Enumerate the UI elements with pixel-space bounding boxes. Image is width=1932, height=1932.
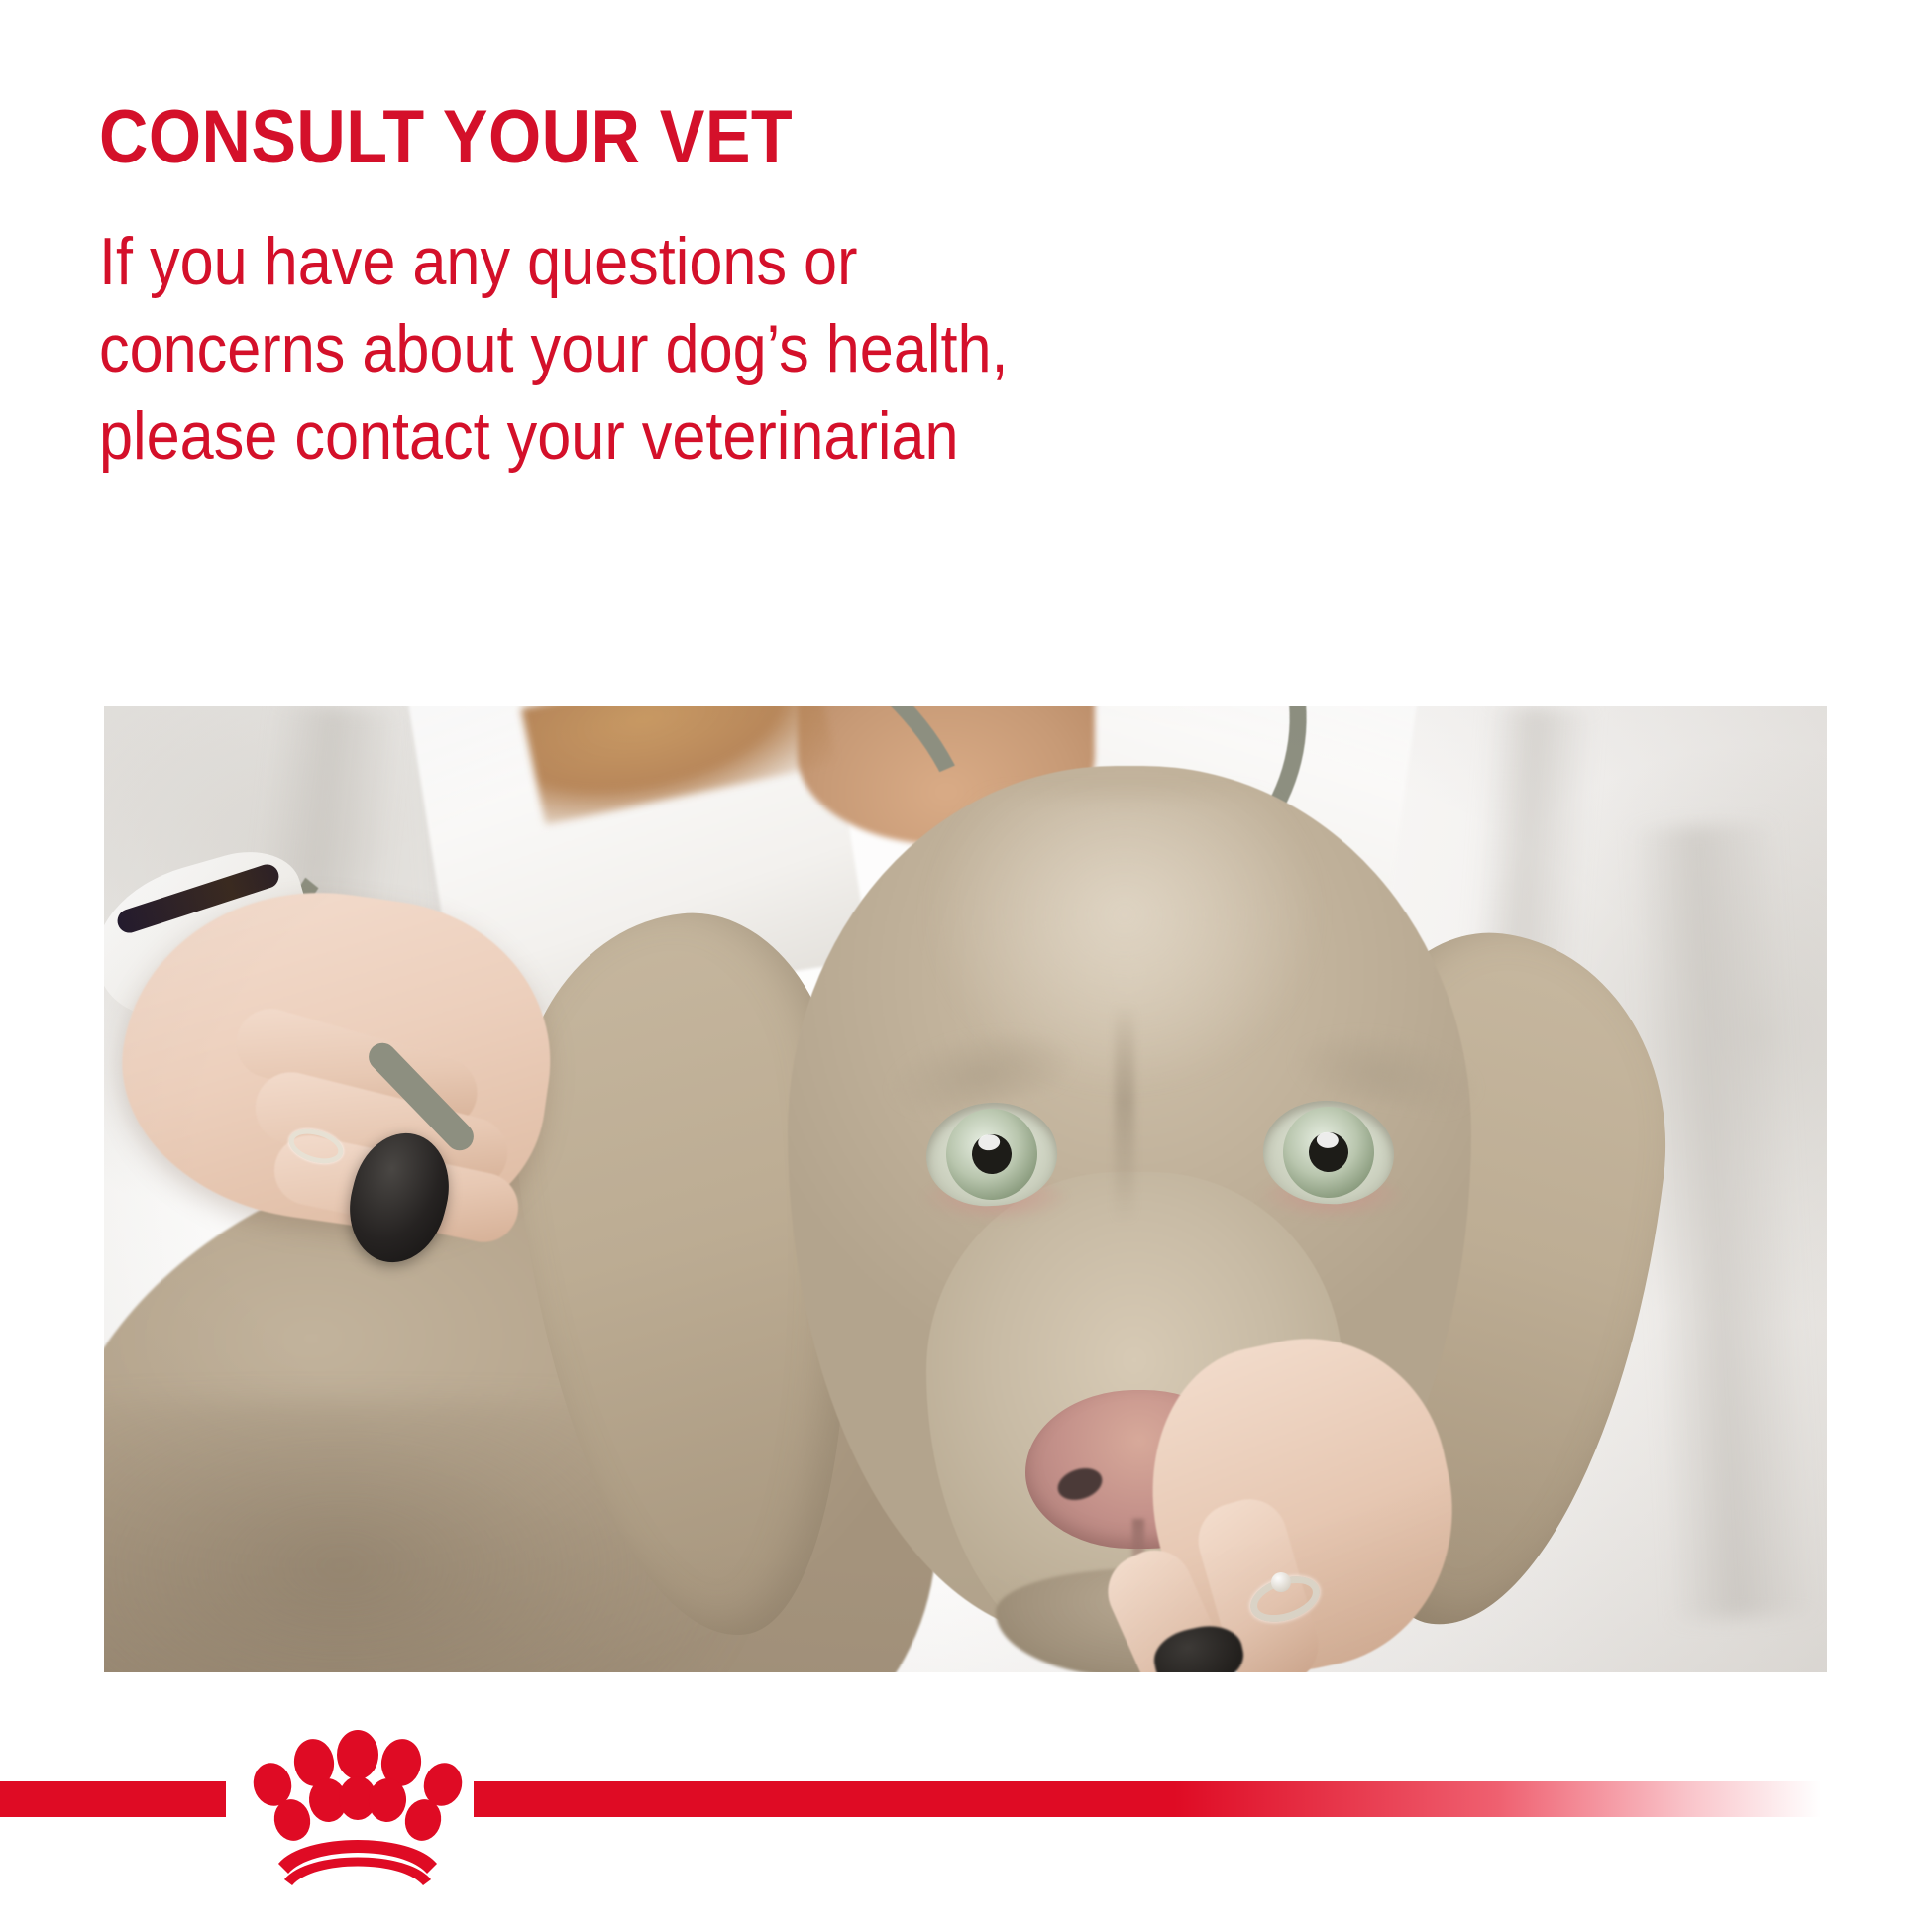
vet-photo (104, 706, 1827, 1672)
subheading-line-1: If you have any questions or (99, 218, 1437, 305)
subheading-line-2: concerns about your dog’s health, (99, 305, 1437, 392)
footer-bar-left (0, 1781, 226, 1817)
page-title: CONSULT YOUR VET (99, 95, 1437, 180)
dog-muzzle-crease (1115, 1004, 1134, 1222)
poster-page: CONSULT YOUR VET If you have any questio… (0, 0, 1932, 1932)
ring-gem (1271, 1572, 1291, 1592)
header-text-block: CONSULT YOUR VET If you have any questio… (99, 95, 1585, 480)
subheading-line-3: please contact your veterinarian (99, 392, 1437, 480)
dog-iris-right (1280, 1104, 1377, 1201)
dog-iris-left (943, 1106, 1040, 1203)
photo-stage (104, 706, 1827, 1672)
royal-canin-crown-icon (253, 1729, 463, 1887)
subheading: If you have any questions or concerns ab… (99, 218, 1437, 480)
footer-bar-right (474, 1781, 1821, 1817)
